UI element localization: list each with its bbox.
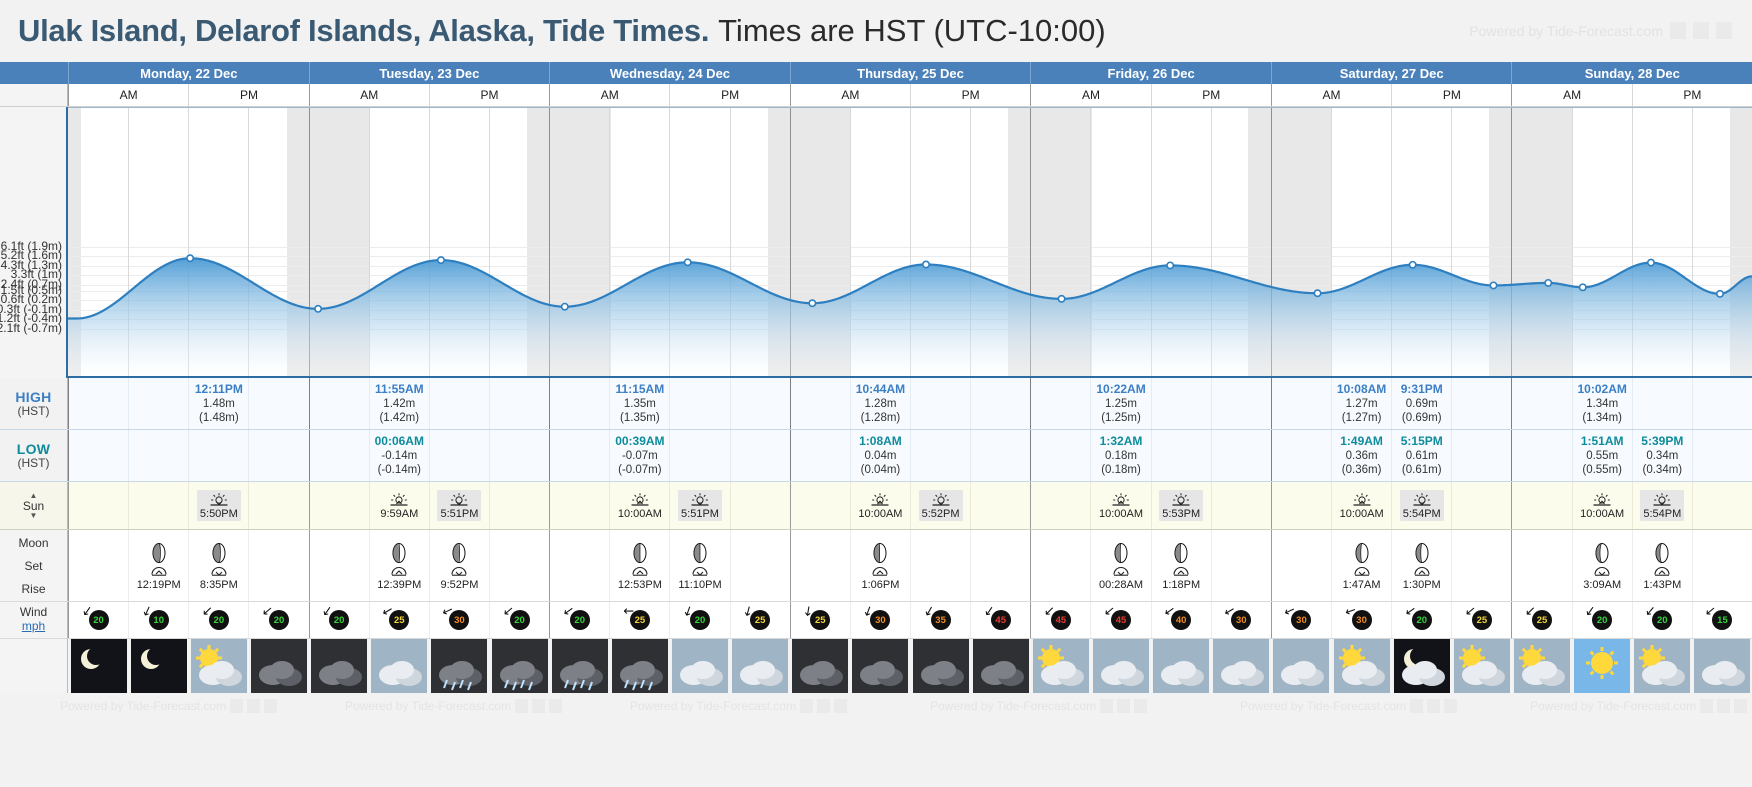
table-cell <box>970 378 1030 429</box>
day-header-2[interactable]: Wednesday, 24 Dec <box>549 62 790 84</box>
low-tide-entry-6: 1:51AM0.55m(0.55m) <box>1572 430 1632 481</box>
wind-cell-5[interactable]: 25↗ <box>369 602 429 638</box>
sun-day-0: 5:50PM <box>68 482 309 529</box>
high-tide-height-6: 0.69m <box>1406 397 1438 411</box>
wind-cell-9[interactable]: 25↗ <box>609 602 669 638</box>
moonrise-icon <box>1652 565 1672 578</box>
sunrise-cell-6: 10:00AM <box>1572 482 1632 529</box>
moon-set-time-1: 9:52PM <box>440 579 478 591</box>
table-cell <box>549 378 609 429</box>
weather-night-clear-icon <box>71 639 127 693</box>
weather-cloud-icon <box>1694 639 1750 693</box>
wind-direction-arrow-icon: ↗ <box>1645 605 1657 619</box>
moon-rise-cell-6: 1:43PM <box>1632 530 1692 601</box>
tide-high-marker-5[interactable] <box>685 259 691 265</box>
moonrise-icon <box>389 565 409 578</box>
weather-cell-12[interactable] <box>790 639 850 693</box>
page-title: Ulak Island, Delarof Islands, Alaska, Ti… <box>18 13 709 49</box>
weather-cell-13[interactable] <box>850 639 910 693</box>
tide-low-marker-16[interactable] <box>1717 291 1723 297</box>
table-cell <box>1030 378 1090 429</box>
weather-sun-cloud-icon <box>191 639 247 693</box>
footer-logo-badge-1 <box>1117 699 1130 713</box>
moon-day-2: 12:53PM11:10PM <box>549 530 790 601</box>
wind-cell-16[interactable]: 45↗ <box>1030 602 1090 638</box>
tide-forecast-page: Ulak Island, Delarof Islands, Alaska, Ti… <box>0 0 1752 787</box>
table-cell <box>1632 378 1692 429</box>
page-header: Ulak Island, Delarof Islands, Alaska, Ti… <box>0 0 1752 62</box>
high-tide-time-3: 10:44AM <box>856 382 905 397</box>
wind-cell-26[interactable]: 20↗ <box>1632 602 1692 638</box>
wind-cells: 20↗10↗20↗20↗20↗25↗30↗20↗20↗25↗20↗25↗25↗3… <box>68 602 1752 638</box>
wind-cell-19[interactable]: 30↗ <box>1211 602 1271 638</box>
weather-cloud-dark-icon <box>973 639 1029 693</box>
weather-day-4 <box>1030 639 1271 693</box>
low-tide-label: LOW (HST) <box>0 430 68 481</box>
sunset-cell-3: 5:52PM <box>910 482 970 529</box>
weather-cell-16[interactable] <box>1030 639 1090 693</box>
weather-cell-2[interactable] <box>188 639 248 693</box>
tide-low-marker-6[interactable] <box>809 300 815 306</box>
chart-y-axis: 6.1ft (1.9m)5.2ft (1.6m)4.3ft (1.3m)3.3f… <box>0 107 68 378</box>
wind-cell-24[interactable]: 25↗ <box>1511 602 1571 638</box>
footer-watermark-0: Powered by Tide-Forecast.com <box>60 699 277 713</box>
moon-rise-cell-2: 12:53PM <box>609 530 669 601</box>
low-tide-time-3: 1:32AM <box>1100 434 1143 449</box>
sun-day-2: 10:00AM5:51PM <box>549 482 790 529</box>
sunset-icon <box>1412 492 1432 508</box>
ampm-pm-6: PM <box>1632 84 1752 106</box>
high-tide-height-3: 1.28m <box>864 397 896 411</box>
weather-cell-23[interactable] <box>1451 639 1511 693</box>
forecast-grid: Monday, 22 DecTuesday, 23 DecWednesday, … <box>0 62 1752 693</box>
table-cell <box>1151 378 1211 429</box>
timezone-note: Times are HST (UTC-10:00) <box>718 13 1106 49</box>
low-tide-entry-2: 1:08AM0.04m(0.04m) <box>850 430 910 481</box>
table-cell <box>1030 430 1090 481</box>
low-tide-day-1: 00:06AM-0.14m(-0.14m) <box>309 430 550 481</box>
wind-direction-arrow-icon: ↗ <box>922 604 936 619</box>
tide-low-marker-4[interactable] <box>562 303 568 309</box>
wind-cell-22[interactable]: 20↗ <box>1391 602 1451 638</box>
day-header-1[interactable]: Tuesday, 23 Dec <box>309 62 550 84</box>
moon-phase-icon <box>210 542 228 564</box>
moon-set-label: Set <box>24 559 42 573</box>
weather-cell-8[interactable] <box>549 639 609 693</box>
sun-day-5: 10:00AM5:54PM <box>1271 482 1512 529</box>
wind-direction-arrow-icon: ↗ <box>502 605 514 619</box>
weather-cell-1[interactable] <box>128 639 188 693</box>
footer-logo-badge-1 <box>1717 699 1730 713</box>
weather-icons-row <box>0 639 1752 693</box>
footer-logo-badge-2 <box>834 699 847 713</box>
sun-cell <box>1692 482 1752 529</box>
weather-cell-7[interactable] <box>489 639 549 693</box>
footer-logo-badge-1 <box>532 699 545 713</box>
table-cell <box>1692 378 1752 429</box>
low-tide-height-alt-5: (0.61m) <box>1402 463 1442 477</box>
moon-cell <box>910 530 970 601</box>
low-tide-label-main: LOW <box>17 441 51 457</box>
moon-day-0: 12:19PM8:35PM <box>68 530 309 601</box>
sunrise-cell-4: 10:00AM <box>1090 482 1150 529</box>
moon-cell <box>1451 530 1511 601</box>
day-header-5[interactable]: Saturday, 27 Dec <box>1271 62 1512 84</box>
ampm-am-4: AM <box>1030 84 1150 106</box>
wind-cell-2[interactable]: 20↗ <box>188 602 248 638</box>
weather-cell-24[interactable] <box>1511 639 1571 693</box>
moon-set-time-6: 3:09AM <box>1583 579 1621 591</box>
high-tide-height-7: 1.34m <box>1586 397 1618 411</box>
tide-chart-plot[interactable] <box>68 107 1752 378</box>
wind-cell-4[interactable]: 20↗ <box>309 602 369 638</box>
table-cell <box>68 378 128 429</box>
sunset-time-5: 5:54PM <box>1403 508 1441 520</box>
weather-cell-17[interactable] <box>1090 639 1150 693</box>
weather-cell-3[interactable] <box>248 639 308 693</box>
high-tide-day-0: 12:11PM1.48m(1.48m) <box>68 378 309 429</box>
weather-cell-6[interactable] <box>429 639 489 693</box>
wind-cell-13[interactable]: 30↗ <box>850 602 910 638</box>
moon-set-cell-1: 9:52PM <box>429 530 489 601</box>
high-tide-height-4: 1.25m <box>1105 397 1137 411</box>
sunset-cell-1: 5:51PM <box>429 482 489 529</box>
moon-cell <box>730 530 790 601</box>
weather-cloud-icon <box>1093 639 1149 693</box>
weather-cell-9[interactable] <box>609 639 669 693</box>
moon-cell <box>549 530 609 601</box>
wind-cell-0[interactable]: 20↗ <box>68 602 128 638</box>
moonset-icon <box>1111 565 1131 578</box>
table-cell <box>429 430 489 481</box>
low-tide-time-5: 5:15PM <box>1401 434 1443 449</box>
weather-rain-icon <box>492 639 548 693</box>
tide-low-marker-12[interactable] <box>1490 282 1496 288</box>
wind-direction-arrow-icon: ↗ <box>681 603 696 619</box>
footer-watermark-4: Powered by Tide-Forecast.com <box>1240 699 1457 713</box>
moon-set-cell-4: 00:28AM <box>1090 530 1150 601</box>
moon-rise-time-0: 12:19PM <box>137 579 181 591</box>
sun-cell <box>309 482 369 529</box>
moon-cell <box>489 530 549 601</box>
moon-rise-cell-5: 1:30PM <box>1391 530 1451 601</box>
weather-cloud-dark-icon <box>792 639 848 693</box>
ampm-pm-0: PM <box>188 84 308 106</box>
wind-cell-1[interactable]: 10↗ <box>128 602 188 638</box>
moonset-icon <box>1592 565 1612 578</box>
high-tide-height-5: 1.27m <box>1346 397 1378 411</box>
sunrise-cell-5: 10:00AM <box>1331 482 1391 529</box>
high-tide-label-sub: (HST) <box>18 405 50 419</box>
moon-cell <box>309 530 369 601</box>
table-cell <box>1511 430 1571 481</box>
sun-cell <box>128 482 188 529</box>
low-tide-height-2: 0.04m <box>864 449 896 463</box>
high-tide-height-alt-6: (0.69m) <box>1402 411 1442 425</box>
day-header-3[interactable]: Thursday, 25 Dec <box>790 62 1031 84</box>
footer-logo-badge-0 <box>515 699 528 713</box>
tide-high-marker-3[interactable] <box>438 257 444 263</box>
sun-day-6: 10:00AM5:54PM <box>1511 482 1752 529</box>
ampm-am-1: AM <box>309 84 429 106</box>
ampm-day-0: AMPM <box>68 84 309 106</box>
day-header-row: Monday, 22 DecTuesday, 23 DecWednesday, … <box>0 62 1752 84</box>
moon-rise-time-1: 12:39PM <box>377 579 421 591</box>
moon-label-text: Moon <box>18 536 48 550</box>
moon-rise-label: Rise <box>21 582 45 596</box>
weather-cell-14[interactable] <box>910 639 970 693</box>
low-tide-day-3: 1:08AM0.04m(0.04m) <box>790 430 1031 481</box>
sun-cells: 5:50PM9:59AM5:51PM10:00AM5:51PM10:00AM5:… <box>68 482 1752 529</box>
weather-night-clear-icon <box>131 639 187 693</box>
day-header-corner <box>0 62 68 84</box>
table-cell <box>1451 430 1511 481</box>
wind-cell-25[interactable]: 20↗ <box>1572 602 1632 638</box>
high-tide-height-1: 1.42m <box>383 397 415 411</box>
wind-cell-10[interactable]: 20↗ <box>669 602 729 638</box>
sunrise-cell-1: 9:59AM <box>369 482 429 529</box>
wind-direction-arrow-icon: ↗ <box>1404 604 1417 619</box>
wind-cell-20[interactable]: 30↗ <box>1271 602 1331 638</box>
wind-unit-link[interactable]: mph <box>22 620 45 634</box>
footer-logo-badge-0 <box>800 699 813 713</box>
low-tide-height-1: -0.07m <box>622 449 658 463</box>
low-tide-time-6: 1:51AM <box>1581 434 1624 449</box>
sunset-time-4: 5:53PM <box>1162 508 1200 520</box>
wind-cell-27[interactable]: 15↗ <box>1692 602 1752 638</box>
wind-cell-3[interactable]: 20↗ <box>248 602 308 638</box>
weather-cell-18[interactable] <box>1151 639 1211 693</box>
wind-day-4: 45↗45↗40↗30↗ <box>1030 602 1271 638</box>
high-tide-entry-6: 9:31PM0.69m(0.69m) <box>1391 378 1451 429</box>
table-cell <box>669 378 729 429</box>
wind-row: Wind mph 20↗10↗20↗20↗20↗25↗30↗20↗20↗25↗2… <box>0 602 1752 639</box>
sun-cell <box>489 482 549 529</box>
weather-cell-21[interactable] <box>1331 639 1391 693</box>
day-header-6[interactable]: Sunday, 28 Dec <box>1511 62 1752 84</box>
footer-logo-badge-2 <box>549 699 562 713</box>
tide-low-marker-10[interactable] <box>1314 290 1320 296</box>
moon-set-time-2: 11:10PM <box>678 579 721 591</box>
moon-cell <box>248 530 308 601</box>
sunset-cell-6: 5:54PM <box>1632 482 1692 529</box>
weather-cell-26[interactable] <box>1632 639 1692 693</box>
footer-watermark-text: Powered by Tide-Forecast.com <box>930 699 1096 713</box>
low-tide-height-alt-4: (0.36m) <box>1342 463 1382 477</box>
tide-low-marker-8[interactable] <box>1058 296 1064 302</box>
sunrise-icon <box>1592 492 1612 508</box>
weather-cells <box>68 639 1752 693</box>
logo-badge-1-icon <box>1670 22 1686 39</box>
high-tide-height-alt-2: (1.35m) <box>620 411 660 425</box>
low-tide-day-6: 1:51AM0.55m(0.55m)5:39PM0.34m(0.34m) <box>1511 430 1752 481</box>
moon-cell <box>790 530 850 601</box>
footer-logo-badge-0 <box>230 699 243 713</box>
sun-cell <box>1271 482 1331 529</box>
moon-cells: 12:19PM8:35PM12:39PM9:52PM12:53PM11:10PM… <box>68 530 1752 601</box>
wind-cell-7[interactable]: 20↗ <box>489 602 549 638</box>
table-cell <box>1271 378 1331 429</box>
high-tide-height-0: 1.48m <box>203 397 235 411</box>
tide-high-marker-11[interactable] <box>1409 262 1415 268</box>
wind-cell-18[interactable]: 40↗ <box>1151 602 1211 638</box>
wind-direction-arrow-icon: ↗ <box>983 604 996 619</box>
weather-sun-icon <box>1574 639 1630 693</box>
ampm-pm-1: PM <box>429 84 549 106</box>
moonset-icon <box>209 565 229 578</box>
tide-low-marker-2[interactable] <box>315 306 321 312</box>
low-tide-height-4: 0.36m <box>1346 449 1378 463</box>
weather-cell-20[interactable] <box>1271 639 1331 693</box>
weather-cell-5[interactable] <box>369 639 429 693</box>
sunrise-time-6: 10:00AM <box>1580 508 1624 520</box>
moon-rise-time-6: 1:43PM <box>1643 579 1681 591</box>
low-tide-height-3: 0.18m <box>1105 449 1137 463</box>
tide-low-marker-14[interactable] <box>1580 284 1586 290</box>
wind-day-6: 25↗20↗20↗15↗ <box>1511 602 1752 638</box>
moon-phase-icon <box>1353 542 1371 564</box>
sunset-icon <box>1652 492 1672 508</box>
low-tide-height-alt-0: (-0.14m) <box>378 463 421 477</box>
tide-high-marker-7[interactable] <box>923 261 929 267</box>
moon-rise-time-4: 1:18PM <box>1162 579 1200 591</box>
ampm-day-6: AMPM <box>1511 84 1752 106</box>
table-cell <box>188 430 248 481</box>
wind-direction-arrow-icon: ↗ <box>1705 605 1717 619</box>
weather-sun-cloud-icon <box>1454 639 1510 693</box>
day-header-4[interactable]: Friday, 26 Dec <box>1030 62 1271 84</box>
low-tide-entry-4: 1:49AM0.36m(0.36m) <box>1331 430 1391 481</box>
moonset-icon <box>690 565 710 578</box>
high-tide-height-alt-1: (1.42m) <box>379 411 419 425</box>
sun-cell <box>1030 482 1090 529</box>
table-cell <box>489 430 549 481</box>
high-tide-cells: 12:11PM1.48m(1.48m)11:55AM1.42m(1.42m)11… <box>68 378 1752 429</box>
moon-cell <box>1030 530 1090 601</box>
sunset-time-2: 5:51PM <box>681 508 719 520</box>
ampm-day-3: AMPM <box>790 84 1031 106</box>
sunset-cell-0: 5:50PM <box>188 482 248 529</box>
weather-cell-4[interactable] <box>309 639 369 693</box>
weather-rain-icon <box>552 639 608 693</box>
low-tide-height-5: 0.61m <box>1406 449 1438 463</box>
table-cell <box>309 430 369 481</box>
moon-row: Moon Set Rise 12:19PM8:35PM12:39PM9:52PM… <box>0 530 1752 602</box>
moon-set-time-0: 8:35PM <box>200 579 238 591</box>
weather-cloud-icon <box>371 639 427 693</box>
low-tide-height-alt-7: (0.34m) <box>1643 463 1683 477</box>
high-tide-entry-4: 10:22AM1.25m(1.25m) <box>1090 378 1150 429</box>
low-tide-height-0: -0.14m <box>381 449 417 463</box>
tide-high-marker-15[interactable] <box>1648 259 1654 265</box>
weather-cell-27[interactable] <box>1692 639 1752 693</box>
weather-cloud-dark-icon <box>852 639 908 693</box>
table-cell <box>68 430 128 481</box>
table-cell <box>248 378 308 429</box>
low-tide-height-alt-1: (-0.07m) <box>618 463 661 477</box>
high-tide-entry-0: 12:11PM1.48m(1.48m) <box>188 378 248 429</box>
high-tide-time-4: 10:22AM <box>1096 382 1145 397</box>
sun-cell <box>970 482 1030 529</box>
sun-cell <box>1211 482 1271 529</box>
high-tide-day-6: 10:02AM1.34m(1.34m) <box>1511 378 1752 429</box>
table-cell <box>1692 430 1752 481</box>
moon-cell <box>1271 530 1331 601</box>
high-tide-time-7: 10:02AM <box>1578 382 1627 397</box>
weather-cell-10[interactable] <box>669 639 729 693</box>
moon-cell <box>68 530 128 601</box>
wind-cell-23[interactable]: 25↗ <box>1451 602 1511 638</box>
sunset-cell-5: 5:54PM <box>1391 482 1451 529</box>
footer-watermark-2: Powered by Tide-Forecast.com <box>630 699 847 713</box>
footer-logo-badge-1 <box>247 699 260 713</box>
weather-cloud-dark-icon <box>913 639 969 693</box>
sun-cell <box>248 482 308 529</box>
wind-cell-15[interactable]: 45↗ <box>970 602 1030 638</box>
ampm-pm-4: PM <box>1151 84 1271 106</box>
table-cell <box>970 430 1030 481</box>
weather-day-2 <box>549 639 790 693</box>
low-tide-height-alt-2: (0.04m) <box>861 463 901 477</box>
footer-watermark-text: Powered by Tide-Forecast.com <box>630 699 796 713</box>
sunset-time-0: 5:50PM <box>200 508 238 520</box>
wind-cell-12[interactable]: 25↗ <box>790 602 850 638</box>
sunrise-icon <box>1352 492 1372 508</box>
tide-high-marker-13[interactable] <box>1545 280 1551 286</box>
wind-cell-11[interactable]: 25↗ <box>730 602 790 638</box>
high-tide-height-alt-3: (1.28m) <box>861 411 901 425</box>
wind-cell-17[interactable]: 45↗ <box>1090 602 1150 638</box>
ampm-am-5: AM <box>1271 84 1391 106</box>
tide-high-marker-9[interactable] <box>1167 262 1173 268</box>
moon-day-1: 12:39PM9:52PM <box>309 530 550 601</box>
weather-cloud-icon <box>1273 639 1329 693</box>
wind-cell-8[interactable]: 20↗ <box>549 602 609 638</box>
high-tide-entry-5: 10:08AM1.27m(1.27m) <box>1331 378 1391 429</box>
wind-direction-arrow-icon: ↗ <box>1103 605 1115 619</box>
weather-cell-11[interactable] <box>730 639 790 693</box>
moonrise-icon <box>630 565 650 578</box>
wind-cell-21[interactable]: 30↗ <box>1331 602 1391 638</box>
sun-cell <box>1511 482 1571 529</box>
low-tide-height-alt-3: (0.18m) <box>1101 463 1141 477</box>
weather-rain-icon <box>431 639 487 693</box>
moon-phase-icon <box>390 542 408 564</box>
high-tide-time-5: 10:08AM <box>1337 382 1386 397</box>
weather-cell-19[interactable] <box>1211 639 1271 693</box>
weather-cell-15[interactable] <box>970 639 1030 693</box>
moon-phase-icon <box>1172 542 1190 564</box>
wind-cell-14[interactable]: 35↗ <box>910 602 970 638</box>
moonset-icon <box>449 565 469 578</box>
weather-cell-25[interactable] <box>1572 639 1632 693</box>
sunset-icon <box>209 492 229 508</box>
footer-watermark-1: Powered by Tide-Forecast.com <box>345 699 562 713</box>
sun-day-3: 10:00AM5:52PM <box>790 482 1031 529</box>
weather-cell-22[interactable] <box>1391 639 1451 693</box>
high-tide-time-0: 12:11PM <box>195 382 243 397</box>
moon-phase-icon <box>871 542 889 564</box>
wind-cell-6[interactable]: 30↗ <box>429 602 489 638</box>
weather-day-5 <box>1271 639 1512 693</box>
tide-high-marker-1[interactable] <box>187 255 193 261</box>
sunrise-time-4: 10:00AM <box>1099 508 1143 520</box>
moon-day-4: 00:28AM1:18PM <box>1030 530 1271 601</box>
high-tide-row: HIGH (HST) 12:11PM1.48m(1.48m)11:55AM1.4… <box>0 378 1752 430</box>
moon-day-5: 1:47AM1:30PM <box>1271 530 1512 601</box>
day-header-0[interactable]: Monday, 22 Dec <box>68 62 309 84</box>
weather-cell-0[interactable] <box>68 639 128 693</box>
